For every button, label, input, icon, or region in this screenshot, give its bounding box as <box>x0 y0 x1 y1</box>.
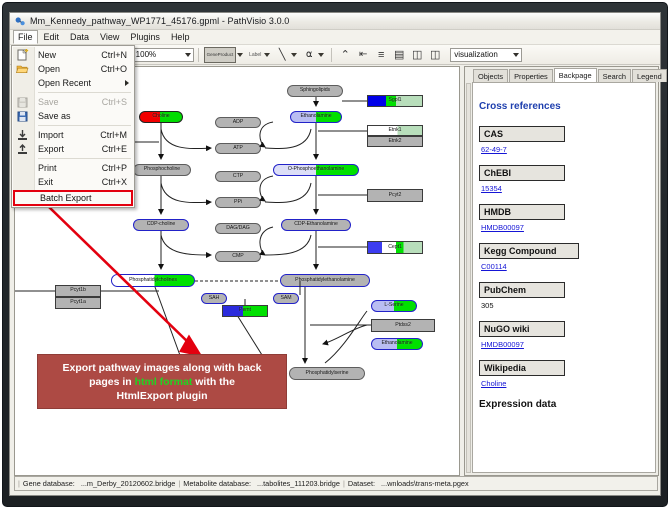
node-label: CMP <box>232 254 243 259</box>
xref-value-wikipedia: Choline <box>481 379 655 388</box>
expression-data-title: Expression data <box>479 399 655 410</box>
annotation-highlight: html format <box>135 376 193 388</box>
chevron-down-icon[interactable] <box>264 53 270 57</box>
menu-item-print-shortcut: Ctrl+P <box>102 163 134 173</box>
node-label: O-Phosphoethanolamine <box>288 167 344 172</box>
stack-icon[interactable]: ◫ <box>409 47 425 63</box>
menu-item-new[interactable]: New Ctrl+N <box>12 48 134 62</box>
node-label: L-Serine <box>384 303 403 308</box>
menu-item-save-as[interactable]: Save as <box>12 109 134 123</box>
side-panel-tabs: Objects Properties Backpage Search Legen… <box>465 67 658 82</box>
gene-label: Pcyt1a <box>70 300 86 305</box>
menu-plugins[interactable]: Plugins <box>125 30 165 44</box>
menu-item-open-recent-label: Open Recent <box>38 78 91 88</box>
node-label: Phosphocholine <box>144 167 180 172</box>
node-label: Phosphatidylethanolamine <box>295 278 355 283</box>
chevron-right-icon <box>125 80 134 86</box>
node-label: Sphingolipids <box>300 88 330 93</box>
chevron-down-icon[interactable] <box>237 53 243 57</box>
node-label: CDP-choline <box>147 222 176 227</box>
toolbar-separator <box>198 48 199 62</box>
status-dataset-value: ...wnloads\trans-meta.pgex <box>378 479 472 488</box>
side-panel: Objects Properties Backpage Search Legen… <box>464 66 659 476</box>
annotation-callout: Export pathway images along with back pa… <box>37 354 287 409</box>
application-window: Mm_Kennedy_pathway_WP1771_45176.gpml - P… <box>9 12 661 496</box>
xref-value-cas: 62-49-7 <box>481 145 655 154</box>
status-gene-db-value: ...m_Derby_20120602.bridge <box>78 479 179 488</box>
annotation-line-2: pages in html format with the <box>89 375 235 389</box>
chevron-down-icon[interactable] <box>291 53 297 57</box>
gene-label: Cept1 <box>388 245 402 250</box>
screenshot-root: Mm_Kennedy_pathway_WP1771_45176.gpml - P… <box>0 0 670 509</box>
tab-legend[interactable]: Legend <box>632 69 667 82</box>
xref-link-wikipedia[interactable]: Choline <box>481 379 506 388</box>
gene-label: Pemt <box>239 308 251 313</box>
export-icon <box>16 143 29 155</box>
menu-item-exit-label: Exit <box>38 177 53 187</box>
save-disk-icon <box>16 96 29 108</box>
xref-header-chebi: ChEBI <box>479 165 565 181</box>
node-label: PPi <box>234 200 242 205</box>
menu-item-save-label: Save <box>38 97 59 107</box>
menu-item-open[interactable]: Open Ctrl+O <box>12 62 134 76</box>
node-label: Choline <box>152 114 169 119</box>
tab-properties[interactable]: Properties <box>509 69 553 82</box>
menu-item-new-label: New <box>38 50 56 60</box>
xref-value-hmdb: HMDB00097 <box>481 223 655 232</box>
menu-item-save-as-label: Save as <box>38 111 71 121</box>
align-center-icon[interactable]: ≡ <box>373 47 389 63</box>
menu-item-print-label: Print <box>38 163 57 173</box>
node-label: SAH <box>209 296 220 301</box>
tab-objects[interactable]: Objects <box>473 69 508 82</box>
menu-item-save: Save Ctrl+S <box>12 95 134 109</box>
menu-item-import[interactable]: Import Ctrl+M <box>12 128 134 142</box>
tab-search[interactable]: Search <box>598 69 631 82</box>
node-label: Phosphatidylserine <box>306 371 349 376</box>
toolbar-separator <box>331 48 332 62</box>
menu-bar: File Edit Data View Plugins Help <box>10 30 660 45</box>
node-label: Ethanolamine <box>381 341 412 346</box>
xref-link-nugo[interactable]: HMDB00097 <box>481 340 524 349</box>
xref-header-nugo: NuGO wiki <box>479 321 565 337</box>
title-bar: Mm_Kennedy_pathway_WP1771_45176.gpml - P… <box>10 13 660 30</box>
zoom-combo-box[interactable]: 100% <box>132 48 194 62</box>
xref-link-chebi[interactable]: 15354 <box>481 184 502 193</box>
node-label: CTP <box>233 174 243 179</box>
pathvisio-icon <box>15 16 26 27</box>
annotation-line-2-before: pages in <box>89 376 135 388</box>
node-label: Phosphatidylcholines <box>129 278 177 283</box>
xref-header-wikipedia: Wikipedia <box>479 360 565 376</box>
datanode-tool-button[interactable]: GeneProduct <box>204 47 237 63</box>
xref-value-kegg: C00114 <box>481 262 655 271</box>
menu-item-export-label: Export <box>38 144 64 154</box>
xref-header-pubchem: PubChem <box>479 282 565 298</box>
menu-item-batch-export[interactable]: Batch Export <box>13 190 133 206</box>
menu-file[interactable]: File <box>13 30 38 44</box>
xref-value-nugo: HMDB00097 <box>481 340 655 349</box>
chevron-down-icon[interactable] <box>318 53 324 57</box>
xref-value-pubchem: 305 <box>481 301 655 310</box>
menu-view[interactable]: View <box>95 30 124 44</box>
status-gene-db-label: Gene database: <box>20 479 78 488</box>
xref-header-hmdb: HMDB <box>479 204 565 220</box>
menu-separator <box>38 125 131 126</box>
gene-pemt[interactable]: Pemt <box>222 305 268 317</box>
shape-tool-button[interactable]: ⍺ <box>301 47 317 63</box>
import-icon <box>16 129 29 141</box>
xref-value-chebi: 15354 <box>481 184 655 193</box>
xref-header-cas: CAS <box>479 126 565 142</box>
menu-item-import-shortcut: Ctrl+M <box>100 130 134 140</box>
status-metabolite-db-label: Metabolite database: <box>180 479 254 488</box>
menu-item-print[interactable]: Print Ctrl+P <box>12 161 134 175</box>
menu-data[interactable]: Data <box>65 30 94 44</box>
visualization-value: visualization <box>454 50 498 59</box>
menu-help[interactable]: Help <box>166 30 195 44</box>
backpage-content: Cross references CAS 62-49-7 ChEBI 15354… <box>472 82 656 473</box>
backpage-title: Cross references <box>479 101 655 112</box>
visualization-combo-box[interactable]: visualization <box>450 48 522 62</box>
status-metabolite-db-value: ...tabolites_111203.bridge <box>254 479 343 488</box>
menu-edit[interactable]: Edit <box>39 30 65 44</box>
group-icon[interactable]: ◫ <box>427 47 443 63</box>
status-dataset-label: Dataset: <box>345 479 378 488</box>
menu-item-exit[interactable]: Exit Ctrl+X <box>12 175 134 189</box>
node-label: DAG/DAG <box>226 226 250 231</box>
status-bar: | Gene database: ...m_Derby_20120602.bri… <box>14 476 658 491</box>
tab-backpage[interactable]: Backpage <box>554 68 597 82</box>
menu-item-export[interactable]: Export Ctrl+E <box>12 142 134 156</box>
gene-label: Ptdss2 <box>395 323 411 328</box>
menu-item-save-shortcut: Ctrl+S <box>102 97 134 107</box>
menu-item-open-recent[interactable]: Open Recent <box>12 76 134 90</box>
node-label: ADP <box>233 120 244 125</box>
xref-header-kegg: Kegg Compound <box>479 243 579 259</box>
menu-separator <box>38 92 131 93</box>
chevron-down-icon <box>185 53 191 57</box>
new-document-icon <box>16 49 29 61</box>
annotation-line-2-after: with the <box>192 376 235 388</box>
xref-link-cas[interactable]: 62-49-7 <box>481 145 507 154</box>
menu-separator <box>38 158 131 159</box>
gene-label: Sgpl1 <box>388 98 401 103</box>
annotation-line-1: Export pathway images along with back <box>63 361 262 375</box>
align-left-icon[interactable]: ⇤ <box>355 47 371 63</box>
line-tool-button[interactable]: ╲ <box>274 47 290 63</box>
node-label: ATP <box>233 146 243 151</box>
file-menu-dropdown[interactable]: New Ctrl+N Open Ctrl+O Open Recent Save <box>11 45 135 208</box>
open-folder-icon <box>16 63 29 75</box>
menu-item-open-shortcut: Ctrl+O <box>101 64 134 74</box>
menu-item-exit-shortcut: Ctrl+X <box>102 177 134 187</box>
menu-item-new-shortcut: Ctrl+N <box>101 50 134 60</box>
label-tool-button[interactable]: Label <box>247 47 263 63</box>
panel-drag-handle[interactable] <box>466 83 471 473</box>
node-label: SAM <box>280 296 291 301</box>
distribute-icon[interactable]: ▤ <box>391 47 407 63</box>
xref-link-hmdb[interactable]: HMDB00097 <box>481 223 524 232</box>
zoom-value: 100% <box>136 50 156 59</box>
node-label: CDP-Ethanolamine <box>294 222 338 227</box>
menu-item-import-label: Import <box>38 130 64 140</box>
gene-label: Etnk2 <box>388 139 401 144</box>
menu-item-open-label: Open <box>38 64 60 74</box>
save-as-disk-icon <box>16 110 29 122</box>
gene-label: Pcyt1b <box>70 288 86 293</box>
xref-link-kegg[interactable]: C00114 <box>481 262 507 271</box>
annotation-line-3: HtmlExport plugin <box>117 389 208 403</box>
node-label: Ethanolamine <box>300 114 331 119</box>
chevron-down-icon <box>513 53 519 57</box>
gene-label: Pcyt2 <box>389 193 402 198</box>
gene-label: Etnk1 <box>388 128 401 133</box>
window-title: Mm_Kennedy_pathway_WP1771_45176.gpml - P… <box>30 16 289 26</box>
menu-item-export-shortcut: Ctrl+E <box>102 144 134 154</box>
menu-item-batch-export-label: Batch Export <box>40 193 92 203</box>
align-top-icon[interactable]: ⌃ <box>337 47 353 63</box>
